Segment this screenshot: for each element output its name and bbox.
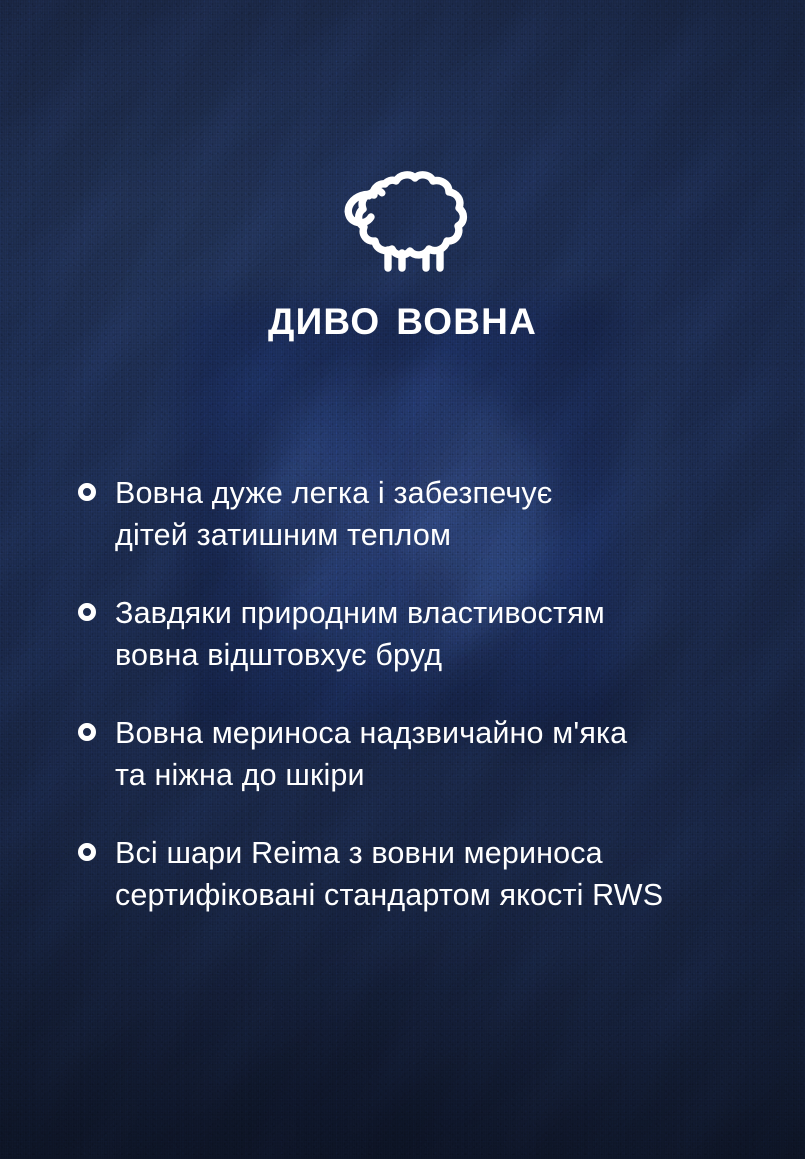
benefit-line-1: Всі шари Reima з вовни мериноса [115,836,603,870]
list-item: Вовна мериноса надзвичайно м'яка та ніжн… [78,712,768,796]
page-title: Диво вовна [0,286,805,348]
ring-bullet-icon [78,843,96,861]
benefit-line-1: Вовна мериноса надзвичайно м'яка [115,716,627,750]
poster-content: Диво вовна Вовна дуже легка і забезпечує… [0,0,805,1159]
benefit-line-2: вовна відштовхує бруд [115,634,605,676]
benefit-text: Всі шари Reima з вовни мериноса сертифік… [115,832,663,916]
benefit-line-1: Вовна дуже легка і забезпечує [115,476,552,510]
benefit-line-1: Завдяки природним властивостям [115,596,605,630]
benefit-line-2: дітей затишним теплом [115,514,552,556]
benefit-line-2: сертифіковані стандартом якості RWS [115,874,663,916]
list-item: Всі шари Reima з вовни мериноса сертифік… [78,832,768,916]
list-item: Завдяки природним властивостям вовна від… [78,592,768,676]
benefit-line-2: та ніжна до шкіри [115,754,627,796]
sheep-icon-container [0,168,805,272]
benefits-list: Вовна дуже легка і забезпечує дітей зати… [78,472,768,916]
ring-bullet-icon [78,483,96,501]
list-item: Вовна дуже легка і забезпечує дітей зати… [78,472,768,556]
ring-bullet-icon [78,723,96,741]
benefit-text: Вовна дуже легка і забезпечує дітей зати… [115,472,552,556]
ring-bullet-icon [78,603,96,621]
wool-infographic-poster: Диво вовна Вовна дуже легка і забезпечує… [0,0,805,1159]
sheep-icon [338,168,468,272]
benefit-text: Вовна мериноса надзвичайно м'яка та ніжн… [115,712,627,796]
benefit-text: Завдяки природним властивостям вовна від… [115,592,605,676]
